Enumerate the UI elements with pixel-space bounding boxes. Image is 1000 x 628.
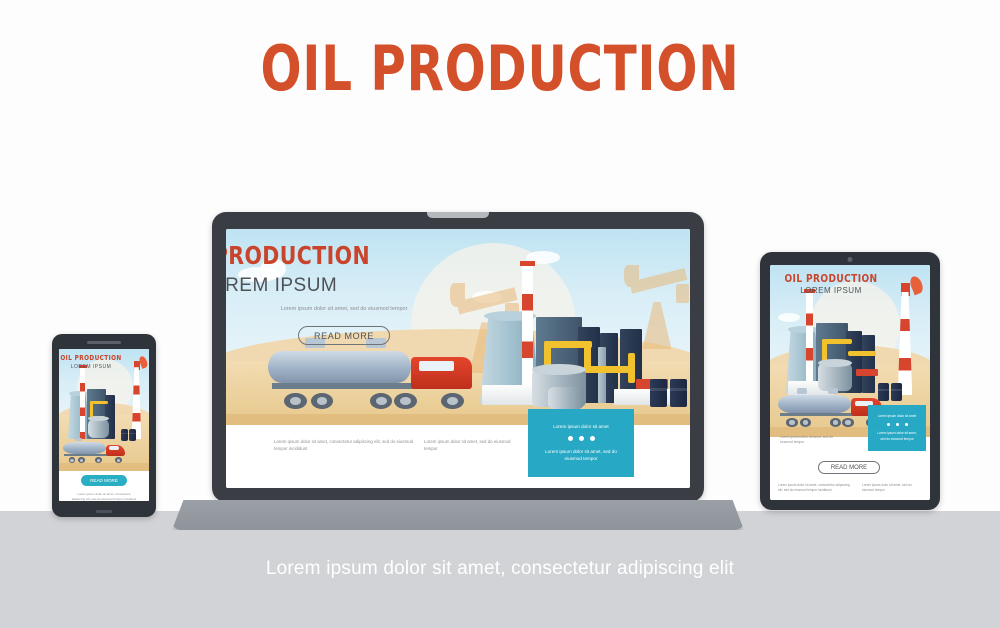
tanker-trailer bbox=[63, 442, 106, 453]
poster-tablet: OIL PRODUCTION LOREM IPSUM Lorem ipsum d… bbox=[770, 265, 930, 500]
poster-title: OIL PRODUCTION bbox=[770, 272, 897, 285]
panel-line-1: Lorem ipsum dolor sit amet bbox=[878, 414, 916, 418]
storage-tank bbox=[548, 387, 584, 409]
truck-wheel bbox=[284, 393, 306, 409]
poster-body-text: Lorem ipsum dolor sit amet, sed do eiusm… bbox=[780, 435, 842, 445]
tanker-trailer bbox=[268, 351, 411, 383]
home-button[interactable] bbox=[96, 510, 112, 513]
device-phone[interactable]: OIL PRODUCTION LOREM IPSUM READ MORE Lor… bbox=[52, 334, 156, 517]
striped-chimney bbox=[80, 367, 85, 439]
pipe-segment bbox=[584, 366, 634, 373]
chimney-cap bbox=[520, 261, 535, 266]
cooling-tower-rim bbox=[69, 391, 88, 396]
truck-wheel bbox=[830, 418, 841, 427]
footnote-left: Lorem ipsum dolor sit amet, consectetur … bbox=[274, 439, 414, 452]
footnote-right: Lorem ipsum dolor sit amet, sed do eiusm… bbox=[424, 439, 516, 452]
striped-chimney bbox=[806, 291, 813, 393]
truck-wheel bbox=[370, 393, 392, 409]
page-title: OIL PRODUCTION bbox=[110, 38, 890, 100]
pipe-segment bbox=[628, 353, 635, 383]
cloud-icon bbox=[778, 313, 800, 322]
derrick-tower bbox=[128, 361, 145, 439]
poster-title: OIL PRODUCTION bbox=[226, 241, 458, 270]
truck-wheel bbox=[800, 418, 811, 427]
derrick-tower bbox=[892, 283, 918, 395]
truck-wheel bbox=[394, 393, 416, 409]
truck-wheel bbox=[311, 393, 333, 409]
phone-screen[interactable]: OIL PRODUCTION LOREM IPSUM READ MORE Lor… bbox=[59, 349, 149, 501]
storage-tank-lid bbox=[88, 416, 109, 421]
truck-wheel bbox=[69, 457, 76, 463]
pipe-segment bbox=[848, 351, 876, 356]
cooling-tower bbox=[68, 393, 89, 439]
tanker-trailer bbox=[778, 395, 851, 413]
refinery-pillar bbox=[598, 347, 606, 403]
storage-tank-lid bbox=[818, 359, 852, 367]
panel-dots bbox=[887, 423, 908, 426]
laptop-screen[interactable]: OIL PRODUCTION LOREM IPSUM Lorem ipsum d… bbox=[226, 229, 690, 488]
laptop-hinge-notch bbox=[427, 212, 489, 218]
panel-line-2: Lorem ipsum dolor sit amet, sed do eiusm… bbox=[876, 431, 918, 441]
laptop-base bbox=[172, 500, 744, 530]
footnote-left: Lorem ipsum dolor sit amet, consectetur … bbox=[778, 483, 850, 493]
info-panel: Lorem ipsum dolor sit amet Lorem ipsum d… bbox=[528, 409, 634, 477]
truck-wheel bbox=[95, 457, 102, 463]
oil-barrel bbox=[650, 379, 667, 407]
device-tablet[interactable]: OIL PRODUCTION LOREM IPSUM Lorem ipsum d… bbox=[760, 252, 940, 510]
panel-line-1: Lorem ipsum dolor sit amet bbox=[553, 424, 608, 429]
panel-dots bbox=[568, 436, 595, 441]
read-more-button[interactable]: READ MORE bbox=[81, 475, 127, 486]
speaker-icon bbox=[87, 341, 121, 344]
footnote-right: Lorem ipsum dolor sit amet, sed do eiusm… bbox=[862, 483, 918, 493]
camera-icon bbox=[848, 257, 853, 262]
panel-line-2: Lorem ipsum dolor sit amet, sed do eiusm… bbox=[542, 448, 620, 463]
truck-wheel bbox=[441, 393, 463, 409]
truck-wheel bbox=[786, 418, 797, 427]
truck-cab bbox=[411, 357, 472, 389]
oil-barrel bbox=[121, 429, 128, 441]
poster-body-text: Lorem ipsum dolor sit amet, consectetur … bbox=[71, 492, 137, 501]
poster-subtitle: LOREM IPSUM bbox=[226, 275, 500, 297]
tanker-truck bbox=[63, 441, 125, 463]
poster-phone: OIL PRODUCTION LOREM IPSUM READ MORE Lor… bbox=[59, 349, 149, 501]
poster-title: OIL PRODUCTION bbox=[59, 354, 128, 362]
poster-subtitle: LOREM IPSUM bbox=[59, 364, 136, 370]
device-laptop[interactable]: OIL PRODUCTION LOREM IPSUM Lorem ipsum d… bbox=[212, 212, 704, 502]
poster-laptop: OIL PRODUCTION LOREM IPSUM Lorem ipsum d… bbox=[226, 229, 690, 488]
tanker-hatch bbox=[75, 438, 81, 442]
refinery-block bbox=[862, 335, 875, 393]
red-pipe bbox=[856, 369, 878, 376]
cooling-tower-rim bbox=[788, 326, 818, 333]
tanker-truck bbox=[778, 393, 882, 427]
truck-wheel bbox=[115, 457, 122, 463]
tanker-hatch bbox=[828, 388, 838, 393]
bottom-caption: Lorem ipsum dolor sit amet, consectetur … bbox=[0, 558, 1000, 580]
poster-body-text: Lorem ipsum dolor sit amet, sed do eiusm… bbox=[276, 305, 412, 313]
read-more-button[interactable]: READ MORE bbox=[818, 461, 880, 474]
oil-barrel bbox=[891, 383, 902, 401]
truck-cab bbox=[106, 445, 125, 456]
info-panel: Lorem ipsum dolor sit amet Lorem ipsum d… bbox=[868, 405, 926, 451]
tanker-hatch bbox=[797, 388, 807, 393]
storage-tank bbox=[818, 363, 852, 391]
read-more-button[interactable]: READ MORE bbox=[298, 326, 390, 345]
truck-wheel bbox=[842, 418, 853, 427]
storage-tank bbox=[88, 419, 109, 438]
tablet-screen[interactable]: OIL PRODUCTION LOREM IPSUM Lorem ipsum d… bbox=[770, 265, 930, 500]
poster-subtitle: LOREM IPSUM bbox=[770, 286, 911, 295]
oil-barrel bbox=[129, 429, 136, 441]
storage-tank-lid bbox=[532, 364, 586, 375]
tanker-truck bbox=[268, 347, 472, 409]
oil-barrel bbox=[670, 379, 687, 407]
truck-wheel bbox=[78, 457, 85, 463]
ground-band bbox=[59, 463, 149, 471]
